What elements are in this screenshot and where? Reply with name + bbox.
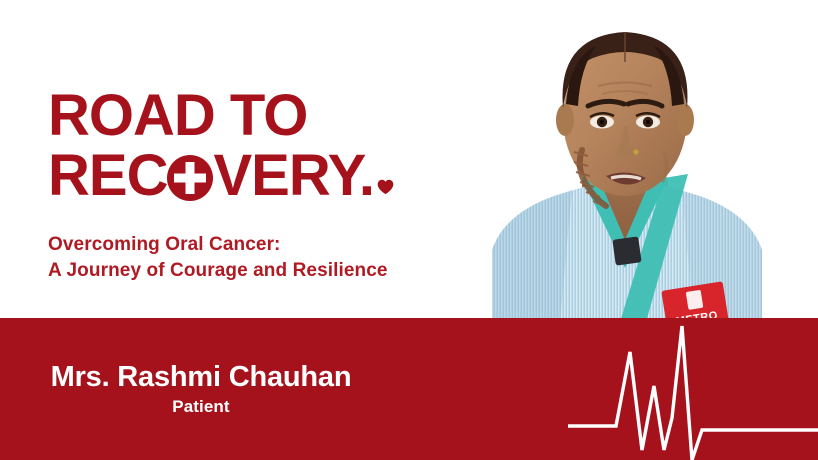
heartbeat-ecg-line-icon <box>568 318 818 460</box>
speaker-role: Patient <box>26 396 376 418</box>
medical-cross-circle-icon <box>166 154 214 202</box>
patient-photo: METRO <box>432 0 818 322</box>
subtitle-line-1: Overcoming Oral Cancer: <box>48 232 478 258</box>
headline-recovery-suffix: VERY. <box>213 143 373 208</box>
speaker-info: Mrs. Rashmi Chauhan Patient <box>26 360 376 418</box>
subtitle-block: Overcoming Oral Cancer: A Journey of Cou… <box>48 232 478 284</box>
patient-photo-illustration: METRO <box>432 0 818 322</box>
headline-line-1: ROAD TO <box>48 88 448 144</box>
subtitle-line-2: A Journey of Courage and Resilience <box>48 258 478 284</box>
road-to-recovery-slide: METRO <box>0 0 818 460</box>
headline-block: ROAD TO REC VERY. <box>48 88 448 204</box>
headline-recovery-prefix: REC <box>48 143 167 208</box>
speaker-name: Mrs. Rashmi Chauhan <box>26 360 376 394</box>
speaker-name-banner: Mrs. Rashmi Chauhan Patient <box>0 318 818 460</box>
heart-icon <box>377 179 394 195</box>
headline-line-2: REC VERY. <box>48 148 448 204</box>
